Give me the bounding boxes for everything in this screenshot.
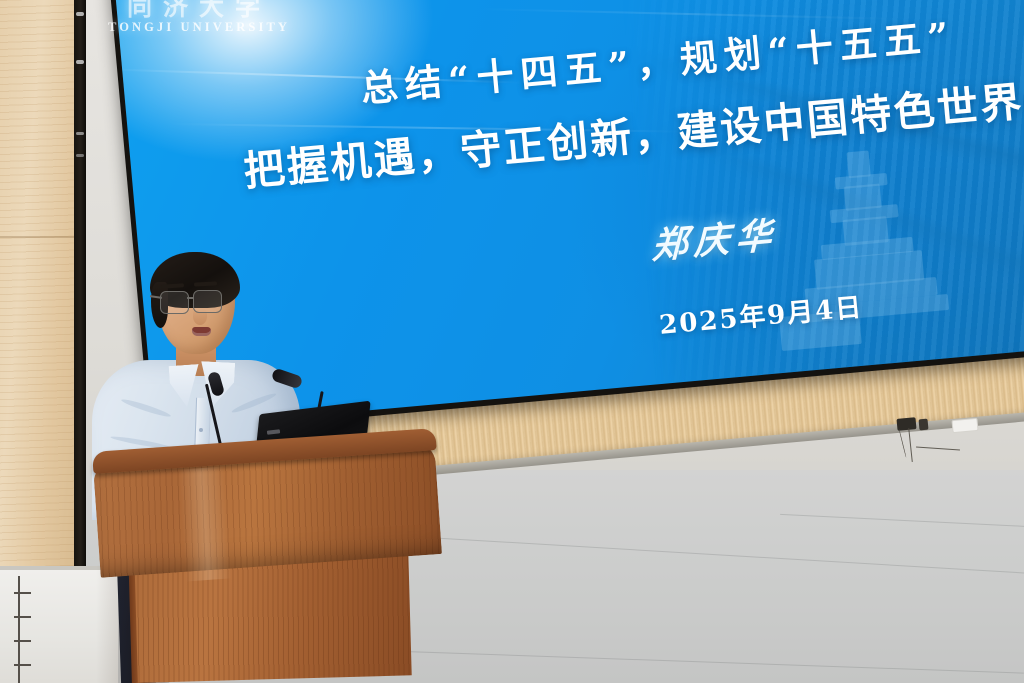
panel-tick — [14, 592, 31, 594]
cable-plate-icon — [919, 419, 929, 431]
shirt-button — [199, 428, 203, 432]
slide-date: 2025年9月4日 — [657, 287, 864, 342]
power-outlet-icon — [951, 418, 978, 433]
presenter-mouth — [192, 327, 211, 336]
screenshot-scene: 总结“十四五”，规划“十五五” 把握机遇，守正创新，建设中国特色世界一流大学 郑… — [0, 0, 1024, 683]
panel-tick — [14, 616, 31, 618]
university-logo: 同济大学 TONGJI UNIVERSITY — [108, 0, 290, 35]
podium-highlight — [178, 467, 232, 582]
slide-signature: 郑庆华 — [652, 206, 778, 270]
panel-tick — [14, 664, 31, 666]
light-reflection — [76, 154, 84, 157]
cable-plate-icon — [896, 417, 916, 431]
light-reflection — [76, 12, 84, 16]
university-name-en: TONGJI UNIVERSITY — [108, 20, 290, 35]
university-name-cn: 同济大学 — [108, 0, 290, 19]
wood-column — [0, 0, 76, 576]
column-shadow-gap — [74, 0, 86, 578]
light-reflection — [76, 132, 84, 135]
column-seam — [0, 236, 76, 238]
light-reflection — [76, 60, 84, 64]
panel-tick — [14, 640, 31, 642]
